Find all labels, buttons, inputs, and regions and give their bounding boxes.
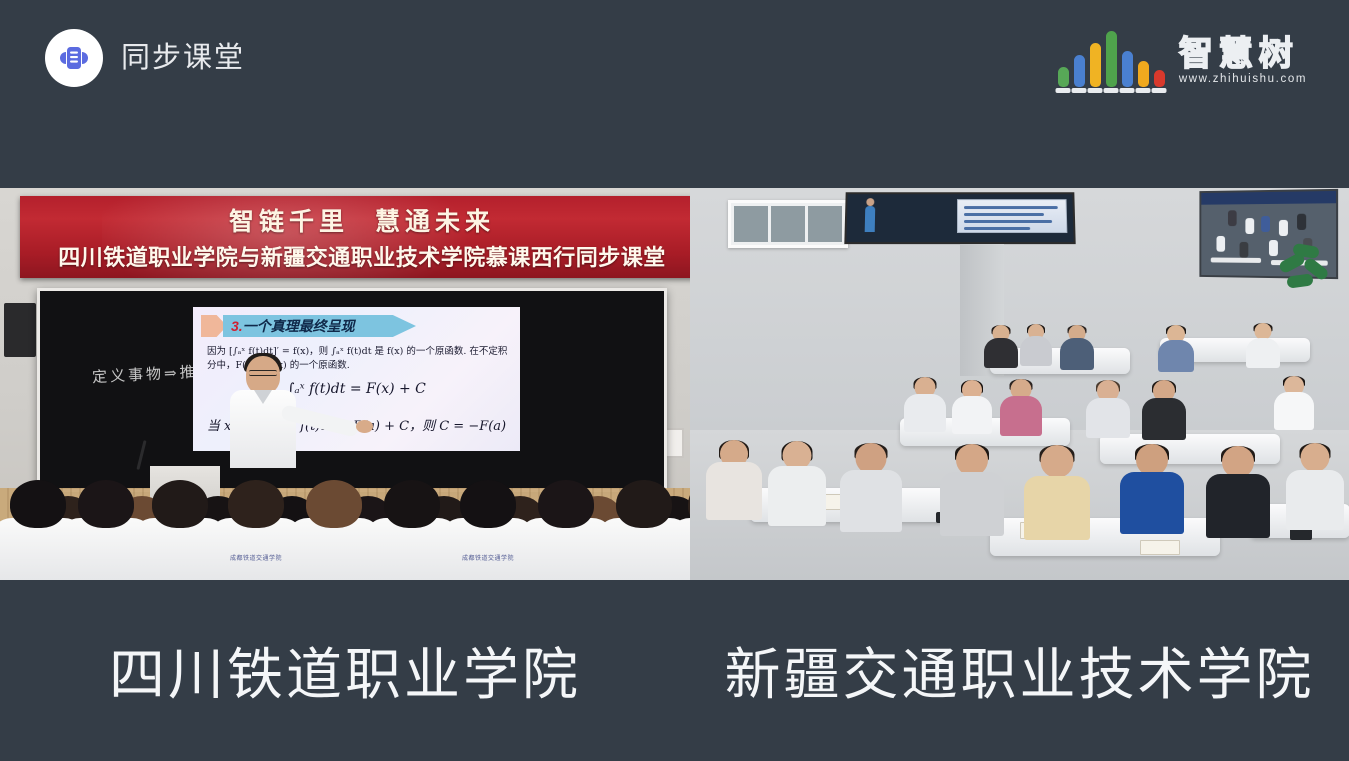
logo-bar-3 [1090,43,1101,87]
zhihuishu-wordmark: 智慧树 www.zhihuishu.com [1179,37,1307,87]
dual-video-stage: 智链千里慧通未来 四川铁道职业学院与新疆交通职业技术学院慕课西行同步课堂 定义事… [0,188,1349,580]
caption-left-school: 四川铁道职业学院 [0,580,690,761]
graduation-book-icon [45,29,103,87]
potted-plant [1279,243,1331,315]
banner-headline-a: 智链千里 [229,208,349,236]
banner-headline-b: 慧通未来 [375,208,495,236]
app-header: 同步课堂 智慧树 www.zhihuishu.com [0,0,1349,110]
logo-bar-7 [1154,70,1165,87]
slide-title-text: 3.一个真理最终呈现 [231,316,355,336]
caption-right-school: 新疆交通职业技术学院 [690,580,1349,761]
zhihuishu-cn-text: 智慧树 [1179,37,1299,71]
event-banner: 智链千里慧通未来 四川铁道职业学院与新疆交通职业技术学院慕课西行同步课堂 [20,196,690,278]
front-display-screen [844,192,1075,244]
slide-title-label: 一个真理最终呈现 [243,318,355,334]
student-figure [668,470,690,580]
zhihuishu-logo: 智慧树 www.zhihuishu.com [1058,27,1307,87]
logo-bar-5 [1122,51,1133,87]
brand: 同步课堂 [45,29,245,87]
classroom-window [728,200,848,248]
slide-title-ribbon: 3.一个真理最终呈现 [201,315,416,337]
zhihuishu-bars-icon [1058,31,1165,87]
sync-classroom-page: 同步课堂 智慧树 www.zhihuishu.com 智链千里慧通未来 四川铁道… [0,0,1349,761]
brand-title: 同步课堂 [121,44,245,73]
logo-bar-1 [1058,67,1069,87]
slide-title-number: 3. [231,318,243,334]
right-video-feed[interactable] [690,188,1349,580]
caption-bar: 四川铁道职业学院 新疆交通职业技术学院 [0,580,1349,761]
banner-headline: 智链千里慧通未来 [20,202,690,238]
logo-bar-4 [1106,31,1117,87]
logo-bar-2 [1074,55,1085,87]
logo-bar-6 [1138,61,1149,87]
wall-speaker [4,303,36,357]
student-shirt-text: 成都铁道交通学院 [462,553,514,562]
student-shirt-text: 成都铁道交通学院 [230,553,282,562]
zhihuishu-url-text: www.zhihuishu.com [1179,73,1307,85]
left-video-feed[interactable]: 智链千里慧通未来 四川铁道职业学院与新疆交通职业技术学院慕课西行同步课堂 定义事… [0,188,690,580]
left-student-rows: 成都铁道交通学院成都铁道交通学院 [0,450,690,580]
banner-subline: 四川铁道职业学院与新疆交通职业技术学院慕课西行同步课堂 [20,240,690,272]
